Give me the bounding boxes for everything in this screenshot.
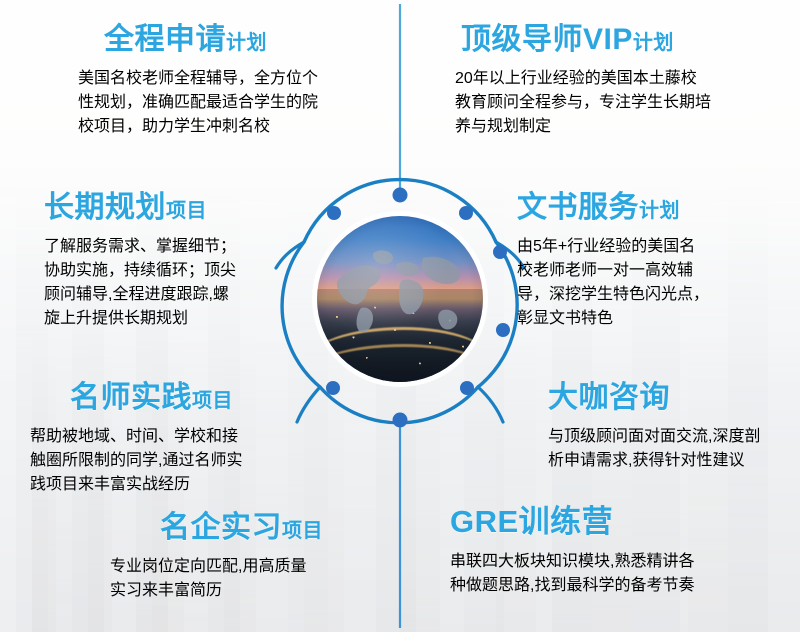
section-title: 大咖咨询 <box>548 382 800 414</box>
desc-line: 践项目来丰富实战经历 <box>30 470 340 494</box>
ring-node-right-upper <box>493 245 507 259</box>
section-title-main: 全程申请 <box>104 23 226 56</box>
desc-line: 导，深挖学生特色闪光点， <box>517 280 800 304</box>
section-gre-xun-lian-ying: GRE训练营 串联四大板块知识模块,熟悉精讲各 种做题思路,找到最科学的备考节奏 <box>450 506 790 611</box>
desc-line: 顾问辅导,全程进度跟踪,螺 <box>44 280 344 304</box>
section-ming-shi-shi-jian: 名师实践项目 帮助被地域、时间、学校和接 触圈所限制的同学,通过名师实 践项目来… <box>30 382 340 510</box>
section-title-main: GRE训练营 <box>450 504 613 539</box>
desc-line: 与顶级顾问面对面交流,深度剖 <box>548 422 800 446</box>
section-title-main: 名师实践 <box>70 381 192 414</box>
section-title-main: 顶级导师VIP <box>461 23 633 56</box>
ring-tail-lower-right <box>478 387 503 422</box>
ring-arc-right <box>478 242 517 387</box>
desc-line: 20年以上行业经验的美国本土藤校 <box>455 64 775 88</box>
section-title: 长期规划项目 <box>44 192 344 224</box>
section-title: 全程申请计划 <box>104 24 378 56</box>
section-title-main: 长期规划 <box>44 191 166 224</box>
section-title-sub: 项目 <box>282 520 323 542</box>
section-chang-qi-gui-hua: 长期规划项目 了解服务需求、掌握细节； 协助实施，持续循环；顶尖 顾问辅导,全程… <box>44 192 344 344</box>
ring-node-bottom <box>393 413 408 428</box>
desc-line: 性规划，准确匹配最适合学生的院 <box>78 88 378 112</box>
desc-line: 教育顾问全程参与，专注学生长期培 <box>455 88 775 112</box>
desc-line: 专业岗位定向匹配,用高质量 <box>110 552 410 576</box>
desc-line: 了解服务需求、掌握细节； <box>44 232 344 256</box>
section-title: 名企实习项目 <box>160 512 410 544</box>
desc-line: 美国名校老师全程辅导，全方位个 <box>78 64 378 88</box>
section-title-main: 文书服务 <box>517 191 639 224</box>
desc-line: 协助实施，持续循环；顶尖 <box>44 256 344 280</box>
section-title: GRE训练营 <box>450 506 790 539</box>
section-title: 名师实践项目 <box>70 382 340 414</box>
section-title-main: 名企实习 <box>160 511 282 544</box>
section-quan-cheng-shen-qing: 全程申请计划 美国名校老师全程辅导，全方位个 性规划，准确匹配最适合学生的院 校… <box>78 24 378 152</box>
section-title-sub: 计划 <box>639 200 680 222</box>
desc-line: 串联四大板块知识模块,熟悉精讲各 <box>450 547 790 571</box>
ring-node-bottom-right <box>460 381 474 395</box>
desc-line: 养与规划制定 <box>455 112 775 136</box>
desc-line: 触圈所限制的同学,通过名师实 <box>30 446 340 470</box>
section-title-sub: 项目 <box>166 200 207 222</box>
desc-line: 校项目，助力学生冲刺名校 <box>78 112 378 136</box>
desc-line: 校老师老师一对一高效辅 <box>517 256 800 280</box>
section-title: 顶级导师VIP计划 <box>461 24 775 56</box>
section-da-ka-zi-xun: 大咖咨询 与顶级顾问面对面交流,深度剖 析申请需求,获得针对性建议 <box>548 382 800 486</box>
desc-line: 由5年+行业经验的美国名 <box>517 232 800 256</box>
section-title: 文书服务计划 <box>517 192 800 224</box>
section-title-sub: 项目 <box>192 390 233 412</box>
section-title-sub: 计划 <box>633 32 674 54</box>
section-title-main: 大咖咨询 <box>548 381 670 414</box>
desc-line: 旋上升提供长期规划 <box>44 304 344 328</box>
ring-node-top <box>393 188 408 203</box>
infographic-poster: 全程申请计划 美国名校老师全程辅导，全方位个 性规划，准确匹配最适合学生的院 校… <box>0 0 800 632</box>
desc-line: 帮助被地域、时间、学校和接 <box>30 422 340 446</box>
desc-line: 实习来丰富简历 <box>110 576 410 600</box>
section-title-sub: 计划 <box>226 32 267 54</box>
ring-node-right-lower <box>496 323 510 337</box>
section-ming-qi-shi-xi: 名企实习项目 专业岗位定向匹配,用高质量 实习来丰富简历 <box>110 512 410 616</box>
section-wen-shu-fu-wu: 文书服务计划 由5年+行业经验的美国名 校老师老师一对一高效辅 导，深挖学生特色… <box>517 192 800 344</box>
desc-line: 析申请需求,获得针对性建议 <box>548 446 800 470</box>
section-ding-ji-dao-shi-vip: 顶级导师VIP计划 20年以上行业经验的美国本土藤校 教育顾问全程参与，专注学生… <box>455 24 775 152</box>
desc-line: 彰显文书特色 <box>517 304 800 328</box>
desc-line: 种做题思路,找到最科学的备考节奏 <box>450 571 790 595</box>
